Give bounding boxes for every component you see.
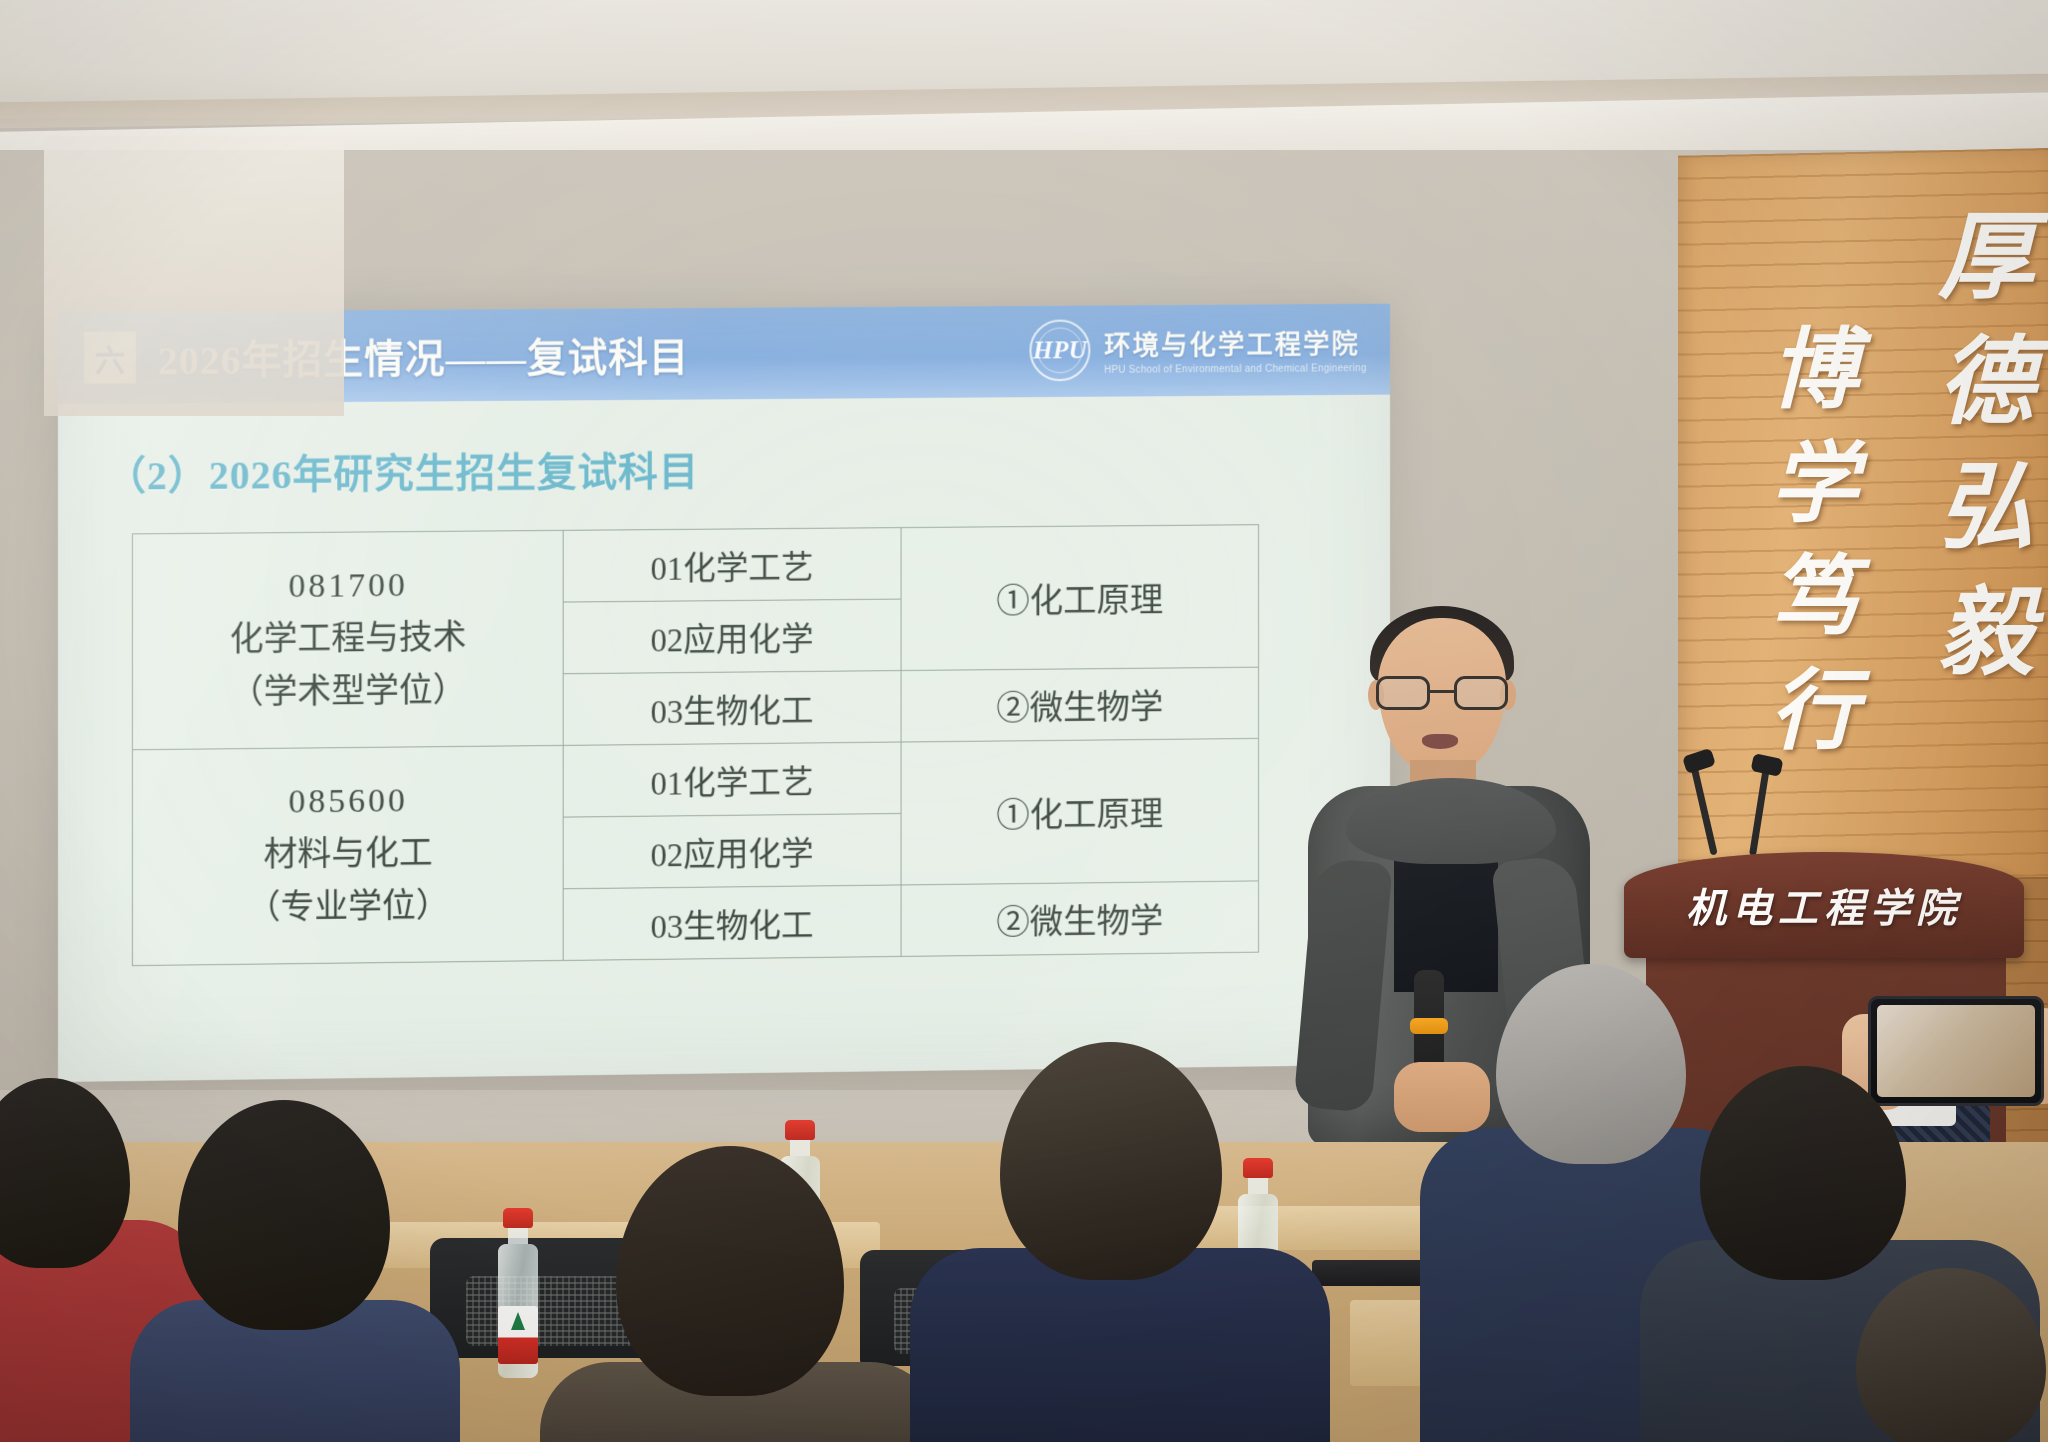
motto-char-bo: 博 bbox=[1770, 330, 1858, 414]
bottle-cap bbox=[503, 1208, 533, 1228]
bottle-label bbox=[498, 1306, 538, 1364]
exam-cell: ①化工原理 bbox=[901, 525, 1259, 671]
lectern-front-panel bbox=[44, 136, 344, 416]
bottle-neck bbox=[790, 1140, 810, 1156]
exam-cell: ②微生物学 bbox=[901, 881, 1259, 957]
direction-cell: 01化学工艺 bbox=[563, 528, 901, 602]
bottle-cap bbox=[1243, 1158, 1273, 1178]
major-cell-1: 081700 化学工程与技术 （学术型学位） bbox=[132, 530, 563, 749]
direction-cell: 01化学工艺 bbox=[563, 742, 901, 817]
slide-subtitle: （2）2026年研究生招生复试科目 bbox=[106, 439, 699, 501]
motto-char-hong: 弘 bbox=[1938, 462, 2034, 553]
major-name: 材料与化工 bbox=[141, 827, 555, 884]
major-degree-type: （学术型学位） bbox=[141, 664, 555, 721]
lecture-hall-photo: 厚 德 弘 毅 博 学 笃 行 六 2026年招生情况——复试科目 HPU 环境… bbox=[0, 0, 2048, 1442]
emblem-monogram: HPU bbox=[1033, 335, 1087, 365]
wall-motto-right-column: 厚 德 弘 毅 bbox=[1938, 212, 2034, 713]
motto-char-du: 笃 bbox=[1770, 557, 1858, 641]
motto-char-xing: 行 bbox=[1770, 671, 1858, 755]
major-degree-type: （专业学位） bbox=[141, 879, 555, 936]
exam-cell: ①化工原理 bbox=[901, 738, 1259, 885]
major-code: 085600 bbox=[141, 774, 555, 831]
table-row: 085600 材料与化工 （专业学位） 01化学工艺 ①化工原理 bbox=[132, 738, 1258, 821]
glasses-bridge bbox=[1430, 690, 1454, 693]
direction-cell: 03生物化工 bbox=[563, 671, 901, 746]
motto-char-de: 德 bbox=[1938, 337, 2034, 428]
direction-cell: 02应用化学 bbox=[563, 813, 901, 888]
bottle-cap bbox=[785, 1120, 815, 1140]
phone-screen bbox=[1877, 1005, 2035, 1097]
motto-char-hou: 厚 bbox=[1938, 212, 2034, 303]
lectern-label: 机电工程学院 bbox=[1624, 876, 2024, 934]
direction-cell: 03生物化工 bbox=[563, 885, 901, 961]
lens-right bbox=[1454, 676, 1508, 710]
hpu-emblem-icon: HPU bbox=[1030, 319, 1091, 381]
college-name-en: HPU School of Environmental and Chemical… bbox=[1104, 363, 1366, 376]
college-name-cn: 环境与化学工程学院 bbox=[1104, 323, 1366, 363]
presenter-mouth bbox=[1422, 734, 1458, 749]
wall-motto-left-column: 博 学 笃 行 bbox=[1770, 330, 1858, 784]
table-row: 081700 化学工程与技术 （学术型学位） 01化学工艺 ①化工原理 bbox=[132, 525, 1258, 606]
glasses-icon bbox=[1374, 676, 1510, 710]
presenter-hands bbox=[1394, 1062, 1490, 1132]
bottle-neck bbox=[1248, 1178, 1268, 1194]
major-name: 化学工程与技术 bbox=[141, 612, 555, 668]
smartphone bbox=[1868, 996, 2044, 1106]
desk-remote bbox=[1312, 1260, 1436, 1286]
retest-subject-table: 081700 化学工程与技术 （学术型学位） 01化学工艺 ①化工原理 02应用… bbox=[132, 524, 1259, 966]
projection-screen: 六 2026年招生情况——复试科目 HPU 环境与化学工程学院 HPU Scho… bbox=[58, 304, 1390, 1082]
major-cell-2: 085600 材料与化工 （专业学位） bbox=[132, 745, 563, 965]
college-name-block: 环境与化学工程学院 HPU School of Environmental an… bbox=[1104, 323, 1366, 376]
presentation-slide: 六 2026年招生情况——复试科目 HPU 环境与化学工程学院 HPU Scho… bbox=[58, 304, 1390, 1082]
water-bottle bbox=[498, 1208, 538, 1378]
microphone-ring bbox=[1410, 1018, 1448, 1034]
motto-char-yi: 毅 bbox=[1938, 588, 2034, 679]
mountain-logo-icon bbox=[511, 1312, 525, 1330]
college-logo: HPU 环境与化学工程学院 HPU School of Environmenta… bbox=[1030, 318, 1367, 382]
motto-char-xue: 学 bbox=[1770, 444, 1858, 528]
exam-cell: ②微生物学 bbox=[901, 667, 1259, 742]
direction-cell: 02应用化学 bbox=[563, 599, 901, 674]
lens-left bbox=[1376, 676, 1430, 710]
bottle-neck bbox=[508, 1228, 528, 1244]
major-code: 081700 bbox=[141, 559, 555, 615]
bottle-body bbox=[498, 1244, 538, 1378]
